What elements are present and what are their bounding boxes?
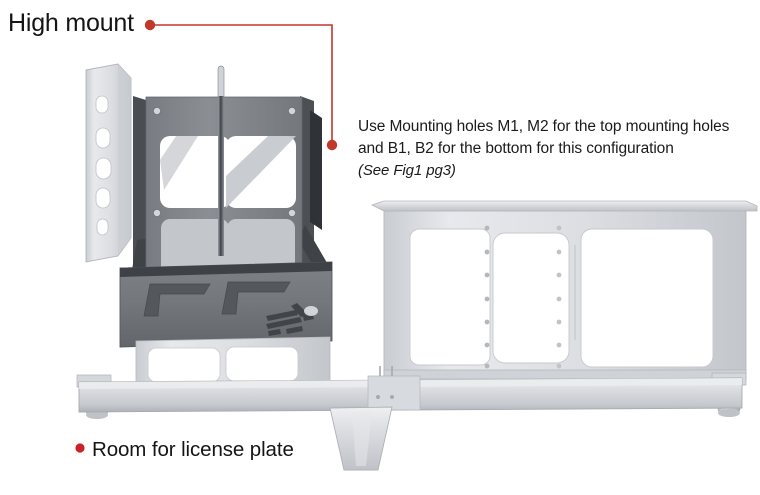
leader-line-high-mount xyxy=(150,25,332,142)
mounting-note: Use Mounting holes M1, M2 for the top mo… xyxy=(358,116,754,181)
callout-label-high-mount: High mount xyxy=(8,8,134,38)
diagram-canvas: High mount Use Mounting holes M1, M2 for… xyxy=(0,0,760,495)
note-line-1: Use Mounting holes M1, M2 for the top mo… xyxy=(358,118,689,135)
callout-leader-high-mount xyxy=(0,0,760,495)
bullet-dot-license-plate xyxy=(75,443,84,452)
callout-label-license-plate: Room for license plate xyxy=(92,437,294,463)
note-reference: (See Fig1 pg3) xyxy=(358,160,754,181)
leader-dot-target xyxy=(327,140,337,150)
leader-dot-origin xyxy=(145,20,155,30)
